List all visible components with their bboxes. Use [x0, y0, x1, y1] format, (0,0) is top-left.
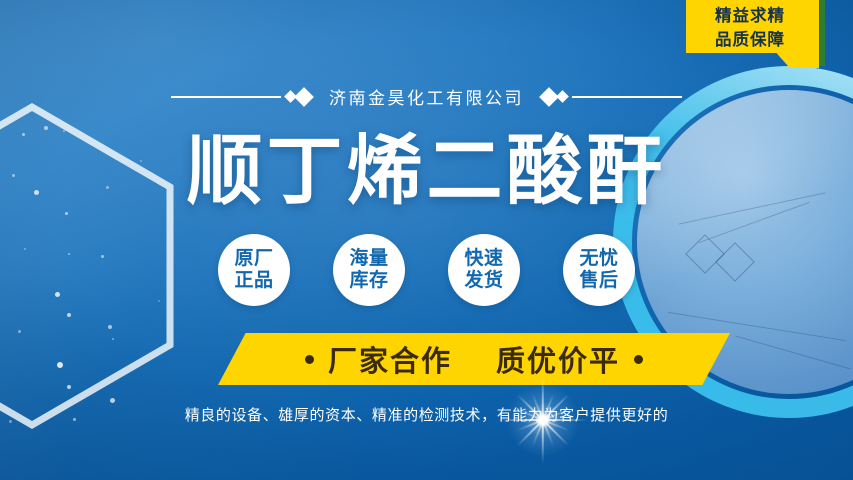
feature-line-2: 发货: [464, 270, 503, 292]
diamond-large-icon: [294, 87, 314, 107]
ribbon-text: 精益求精 品质保障: [686, 4, 814, 52]
feature-line-1: 原厂: [234, 248, 273, 270]
slogan-bar: 厂家合作 质优价平: [218, 333, 730, 385]
diamond-small-icon: [556, 90, 569, 103]
feature-line-2: 售后: [579, 270, 618, 292]
bullet-dot-right-icon: [634, 355, 643, 364]
ribbon-accent-stripe: [820, 0, 825, 66]
feature-line-2: 库存: [349, 270, 388, 292]
promo-banner: 精益求精 品质保障 济南金昊化工有限公司 顺丁烯二酸酐 原厂 正品 海量 库存 …: [0, 0, 853, 480]
company-name-row: 济南金昊化工有限公司: [0, 84, 853, 109]
tagline: 精良的设备、雄厚的资本、精准的检测技术，有能力为客户提供更好的: [0, 404, 853, 425]
rule-right: [572, 96, 682, 98]
diamond-ornament-left: [281, 90, 316, 104]
feature-line-1: 无忧: [579, 248, 618, 270]
feature-line-1: 海量: [349, 248, 388, 270]
company-name: 济南金昊化工有限公司: [316, 84, 537, 109]
feature-badge: 无忧 售后: [563, 234, 635, 306]
quality-ribbon-badge: 精益求精 品质保障: [686, 0, 831, 68]
diamond-ornament-right: [537, 90, 572, 104]
ribbon-line-1: 精益求精: [686, 4, 814, 28]
feature-line-1: 快速: [464, 248, 503, 270]
feature-line-2: 正品: [234, 270, 273, 292]
product-headline: 顺丁烯二酸酐: [0, 126, 853, 218]
slogan-left: 厂家合作: [328, 338, 452, 380]
rule-left: [171, 96, 281, 98]
feature-badge: 海量 库存: [333, 234, 405, 306]
bullet-dot-left-icon: [305, 355, 314, 364]
ribbon-line-2: 品质保障: [686, 28, 814, 52]
feature-badges: 原厂 正品 海量 库存 快速 发货 无忧 售后: [0, 234, 853, 306]
feature-badge: 快速 发货: [448, 234, 520, 306]
slogan-right: 质优价平: [496, 338, 620, 380]
feature-badge: 原厂 正品: [218, 234, 290, 306]
